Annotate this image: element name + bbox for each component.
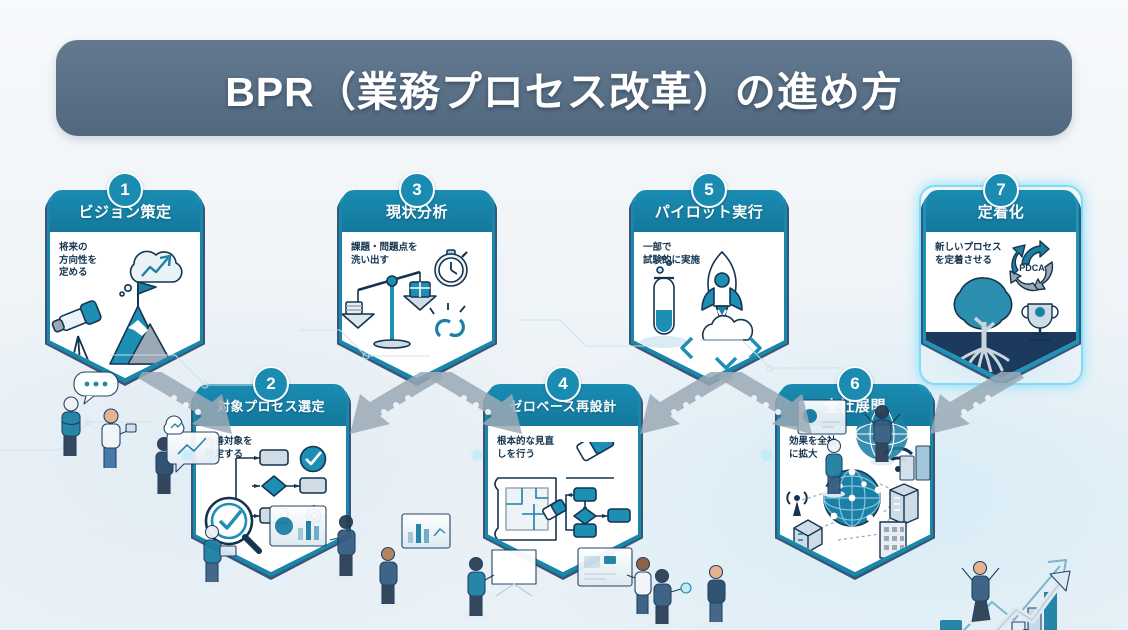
step-number-badge: 3	[399, 172, 435, 208]
glow-accent	[760, 448, 774, 462]
step-number-badge: 5	[691, 172, 727, 208]
step-number-badge: 7	[983, 172, 1019, 208]
step-number-badge: 4	[545, 366, 581, 402]
page-title-bar: BPR（業務プロセス改革）の進め方	[56, 40, 1072, 136]
infographic-canvas: BPR（業務プロセス改革）の進め方 ビジョン策定 将来の	[0, 0, 1128, 630]
arrow-6-to-7	[916, 372, 1026, 442]
page-title: BPR（業務プロセス改革）の進め方	[225, 58, 903, 118]
step-number-badge: 1	[107, 172, 143, 208]
arrow-3-to-4	[426, 372, 536, 442]
glow-accent	[180, 448, 194, 462]
step-number-badge: 2	[253, 366, 289, 402]
glow-accent	[470, 448, 484, 462]
arrow-1-to-2	[136, 372, 246, 442]
arrow-5-to-6	[716, 372, 826, 442]
step-number-badge: 6	[837, 366, 873, 402]
